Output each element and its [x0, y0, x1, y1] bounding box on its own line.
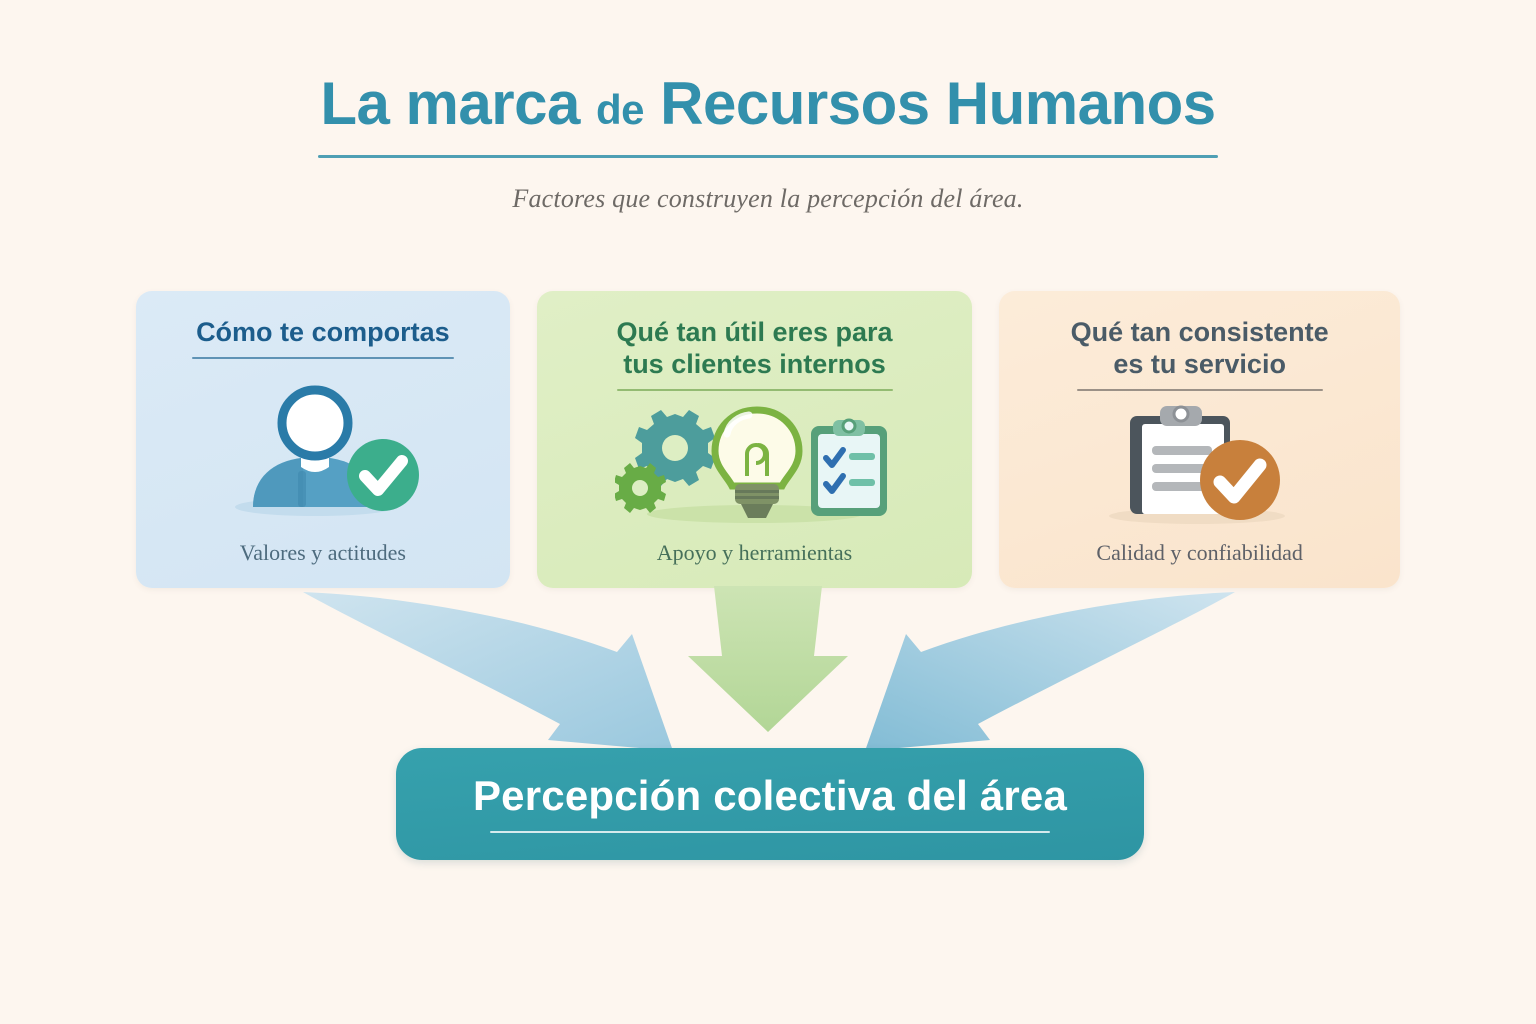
page-subtitle: Factores que construyen la percepción de…	[0, 184, 1536, 214]
result-banner-underline	[490, 831, 1050, 833]
arrow-right-curved	[865, 592, 1235, 751]
page-title-part1: La marca	[320, 70, 580, 137]
page-title-connector: de	[596, 86, 644, 133]
factor-card-consistencia[interactable]: Qué tan consistente es tu servicio	[999, 291, 1400, 588]
result-banner[interactable]: Percepción colectiva del área	[396, 748, 1144, 860]
card-caption: Apoyo y herramientas	[657, 540, 853, 566]
card-heading-line2: tus clientes internos	[623, 349, 886, 379]
title-divider	[318, 155, 1218, 158]
page-title: La marca de Recursos Humanos	[0, 72, 1536, 135]
gears-lightbulb-clipboard-icon	[615, 406, 895, 524]
card-heading: Cómo te comportas	[192, 317, 454, 349]
card-caption: Valores y actitudes	[240, 540, 406, 566]
page-title-part2: Recursos Humanos	[660, 70, 1216, 137]
arrow-left-curved	[303, 592, 673, 751]
converging-arrows	[0, 584, 1536, 760]
card-caption: Calidad y confiabilidad	[1096, 540, 1303, 566]
card-icon-container	[1017, 391, 1382, 540]
card-heading: Qué tan consistente es tu servicio	[1067, 317, 1333, 381]
card-heading: Qué tan útil eres para tus clientes inte…	[612, 317, 896, 381]
clipboard-with-check-icon	[1092, 404, 1307, 526]
arrow-center-straight	[688, 586, 848, 732]
factor-card-comportamiento[interactable]: Cómo te comportas Valores y actitudes	[136, 291, 510, 588]
infographic-canvas: La marca de Recursos Humanos Factores qu…	[0, 0, 1536, 1024]
card-heading-line1: Qué tan útil eres para	[616, 317, 892, 347]
header: La marca de Recursos Humanos Factores qu…	[0, 72, 1536, 214]
result-banner-label: Percepción colectiva del área	[473, 775, 1067, 817]
clipboard-checklist-icon	[811, 420, 887, 516]
lightbulb-icon	[715, 410, 799, 518]
card-icon-container	[555, 391, 955, 540]
card-heading-line2: es tu servicio	[1113, 349, 1286, 379]
person-with-check-icon	[215, 379, 430, 519]
factor-cards-row: Cómo te comportas Valores y actitudes	[136, 291, 1400, 588]
card-icon-container	[154, 359, 492, 540]
card-heading-line1: Qué tan consistente	[1071, 317, 1329, 347]
factor-card-utilidad[interactable]: Qué tan útil eres para tus clientes inte…	[537, 291, 973, 588]
